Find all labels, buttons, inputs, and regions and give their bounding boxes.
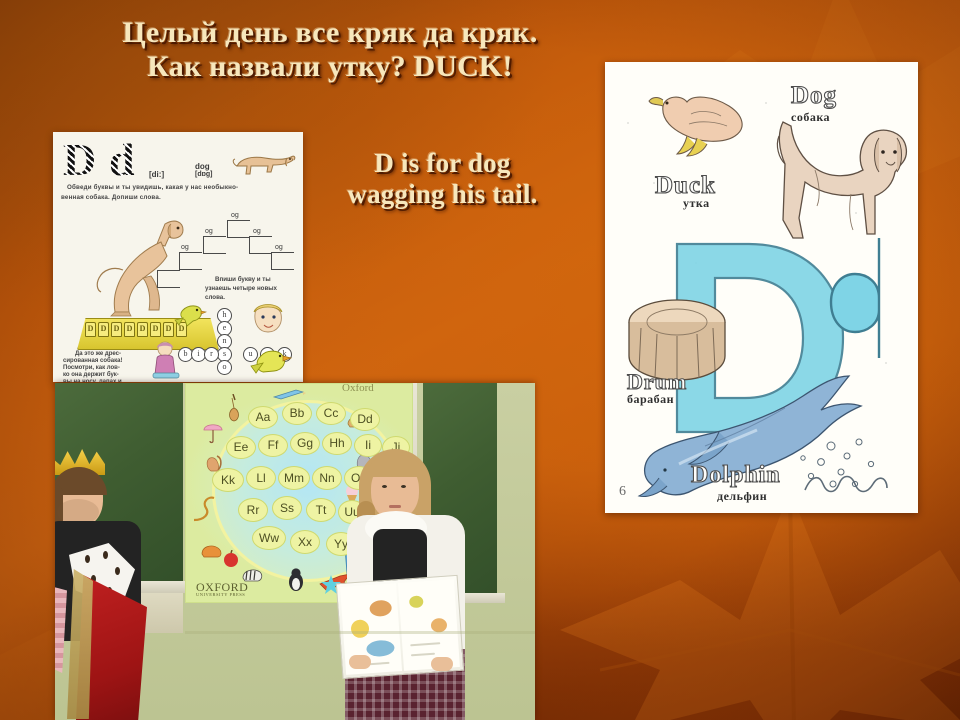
step-box: [249, 236, 272, 254]
poster-letter-Dd: Dd: [350, 408, 380, 431]
book-illustration: [409, 595, 424, 608]
worksheet-instruction-line-1: Обведи буквы и ты увидишь, какая у нас н…: [67, 184, 238, 191]
label-dolphin-en: Dolphin: [691, 462, 781, 489]
worksheet-instruction2-line-1: Впиши букву и ты: [215, 276, 271, 283]
pedestal-letter: D: [111, 322, 122, 337]
step-word: og: [275, 244, 283, 251]
label-dog-ru: собака: [791, 110, 830, 125]
worksheet-note-line-4: ко она держит бук-: [63, 372, 119, 378]
worksheet-note-line-5: вы на носу, лапах и: [63, 379, 122, 382]
duckling-illustration: [247, 344, 293, 376]
book-right-page: [398, 579, 460, 671]
step-box: [203, 236, 226, 254]
worksheet-note-line-3: Посмотри, как лов-: [63, 365, 120, 371]
poster-letter-Cc: Cc: [316, 402, 346, 425]
word-dog-transcription: [dɒg]: [195, 171, 213, 178]
worksheet-right-image: Duck утка Dog собака Drum барабан Dolphi…: [605, 62, 918, 513]
girl-hand-left: [349, 655, 371, 669]
poster-letter-Ww: Ww: [252, 526, 286, 550]
pedestal-letter: D: [124, 322, 135, 337]
poster-letter-Ll: Ll: [246, 466, 276, 490]
deco-violin: [224, 394, 244, 429]
poster-letter-Xx: Xx: [290, 530, 320, 554]
girl-hand-right: [431, 657, 453, 671]
floor-line: [185, 631, 535, 634]
poster-brand-sub: UNIVERSITY PRESS: [196, 592, 245, 597]
slide-title: Целый день все кряк да кряк. Как назвали…: [40, 16, 620, 84]
worksheet-left-image: D d [di:] dog [dɒg] Обведи буквы и ты ув…: [53, 132, 303, 382]
pedestal-letter: D: [85, 322, 96, 337]
step-word: og: [231, 212, 239, 219]
step-box: [179, 252, 202, 270]
pedestal-letter: D: [150, 322, 161, 337]
label-dog-en: Dog: [791, 82, 837, 110]
dog-drawing: [733, 110, 913, 280]
block-letter-d-lower: d: [109, 138, 135, 182]
subtitle-line-1: D is for dog: [300, 148, 585, 179]
girl-eye-left: [382, 485, 387, 488]
step-box: [227, 220, 250, 238]
paper-speck: [765, 102, 767, 104]
worksheet-note-line-2: сированная собака!: [63, 358, 122, 364]
girl-eye-right: [401, 485, 406, 488]
crossword-cell: o: [217, 360, 232, 375]
poster-letter-Ee: Ee: [226, 436, 256, 459]
label-duck-ru: утка: [683, 196, 710, 211]
book-illustration: [369, 600, 392, 617]
poster-letter-Kk: Kk: [212, 468, 244, 492]
letter-transcription: [di:]: [149, 170, 164, 179]
book-illustration: [350, 619, 369, 638]
paper-speck: [627, 122, 629, 124]
slide-subtitle: D is for dog wagging his tail.: [300, 148, 585, 211]
step-word: og: [205, 228, 213, 235]
title-line-2: Как назвали утку? DUCK!: [40, 50, 620, 84]
poster-letter-Rr: Rr: [238, 498, 268, 522]
block-letter-d-upper: D: [63, 138, 96, 182]
subtitle-line-2: wagging his tail.: [300, 179, 585, 210]
step-word: og: [181, 244, 189, 251]
worksheet-instruction2-line-2: узнаешь четыре новых: [205, 285, 277, 292]
book-text-line: [410, 642, 440, 646]
worksheet-instruction-line-2: венная собака. Допиши слова.: [61, 194, 161, 201]
deco-fox: [198, 538, 224, 565]
label-drum-ru: барабан: [627, 392, 674, 407]
poster-top-brand: Oxford: [342, 383, 374, 394]
girl-mouth: [389, 505, 401, 508]
teacher-in-king-costume: [55, 449, 195, 720]
splash-squiggle: [801, 462, 891, 498]
poster-letter-Ss: Ss: [272, 496, 302, 520]
title-line-1: Целый день все кряк да кряк.: [40, 16, 620, 50]
girl-face-illustration: [249, 298, 287, 336]
poster-letter-Gg: Gg: [290, 432, 320, 455]
seated-girl-illustration: [147, 340, 187, 380]
poster-letter-Aa: Aa: [248, 406, 278, 429]
bird-illustration: [171, 300, 207, 328]
pupil-girl: [335, 443, 495, 720]
pedestal-letter: D: [98, 322, 109, 337]
crossword-cell: r: [204, 347, 219, 362]
label-dolphin-ru: дельфин: [717, 489, 767, 504]
book-illustration: [366, 639, 395, 657]
presentation-slide: Целый день все кряк да кряк. Как назвали…: [0, 0, 960, 720]
worksheet-instruction2-line-3: слова.: [205, 294, 225, 301]
dachshund-illustration: [231, 146, 297, 182]
deco-umbrella: [202, 420, 224, 449]
poster-letter-Ff: Ff: [258, 434, 288, 457]
classroom-photo: Oxford: [55, 383, 535, 720]
deco-penguin: [286, 568, 306, 597]
poster-letter-Tt: Tt: [306, 498, 336, 522]
pedestal-letter: D: [137, 322, 148, 337]
step-word: og: [253, 228, 261, 235]
book-text-line: [411, 653, 435, 657]
step-box: [271, 252, 294, 270]
word-dog: dog: [195, 162, 210, 171]
deco-apple: [222, 550, 240, 573]
step-box: [157, 270, 180, 288]
poster-letter-Bb: Bb: [282, 402, 312, 425]
poster-letter-Mm: Mm: [278, 466, 310, 490]
page-number: 6: [619, 484, 626, 500]
worksheet-note-line-1: Да это же дрес-: [75, 351, 121, 357]
